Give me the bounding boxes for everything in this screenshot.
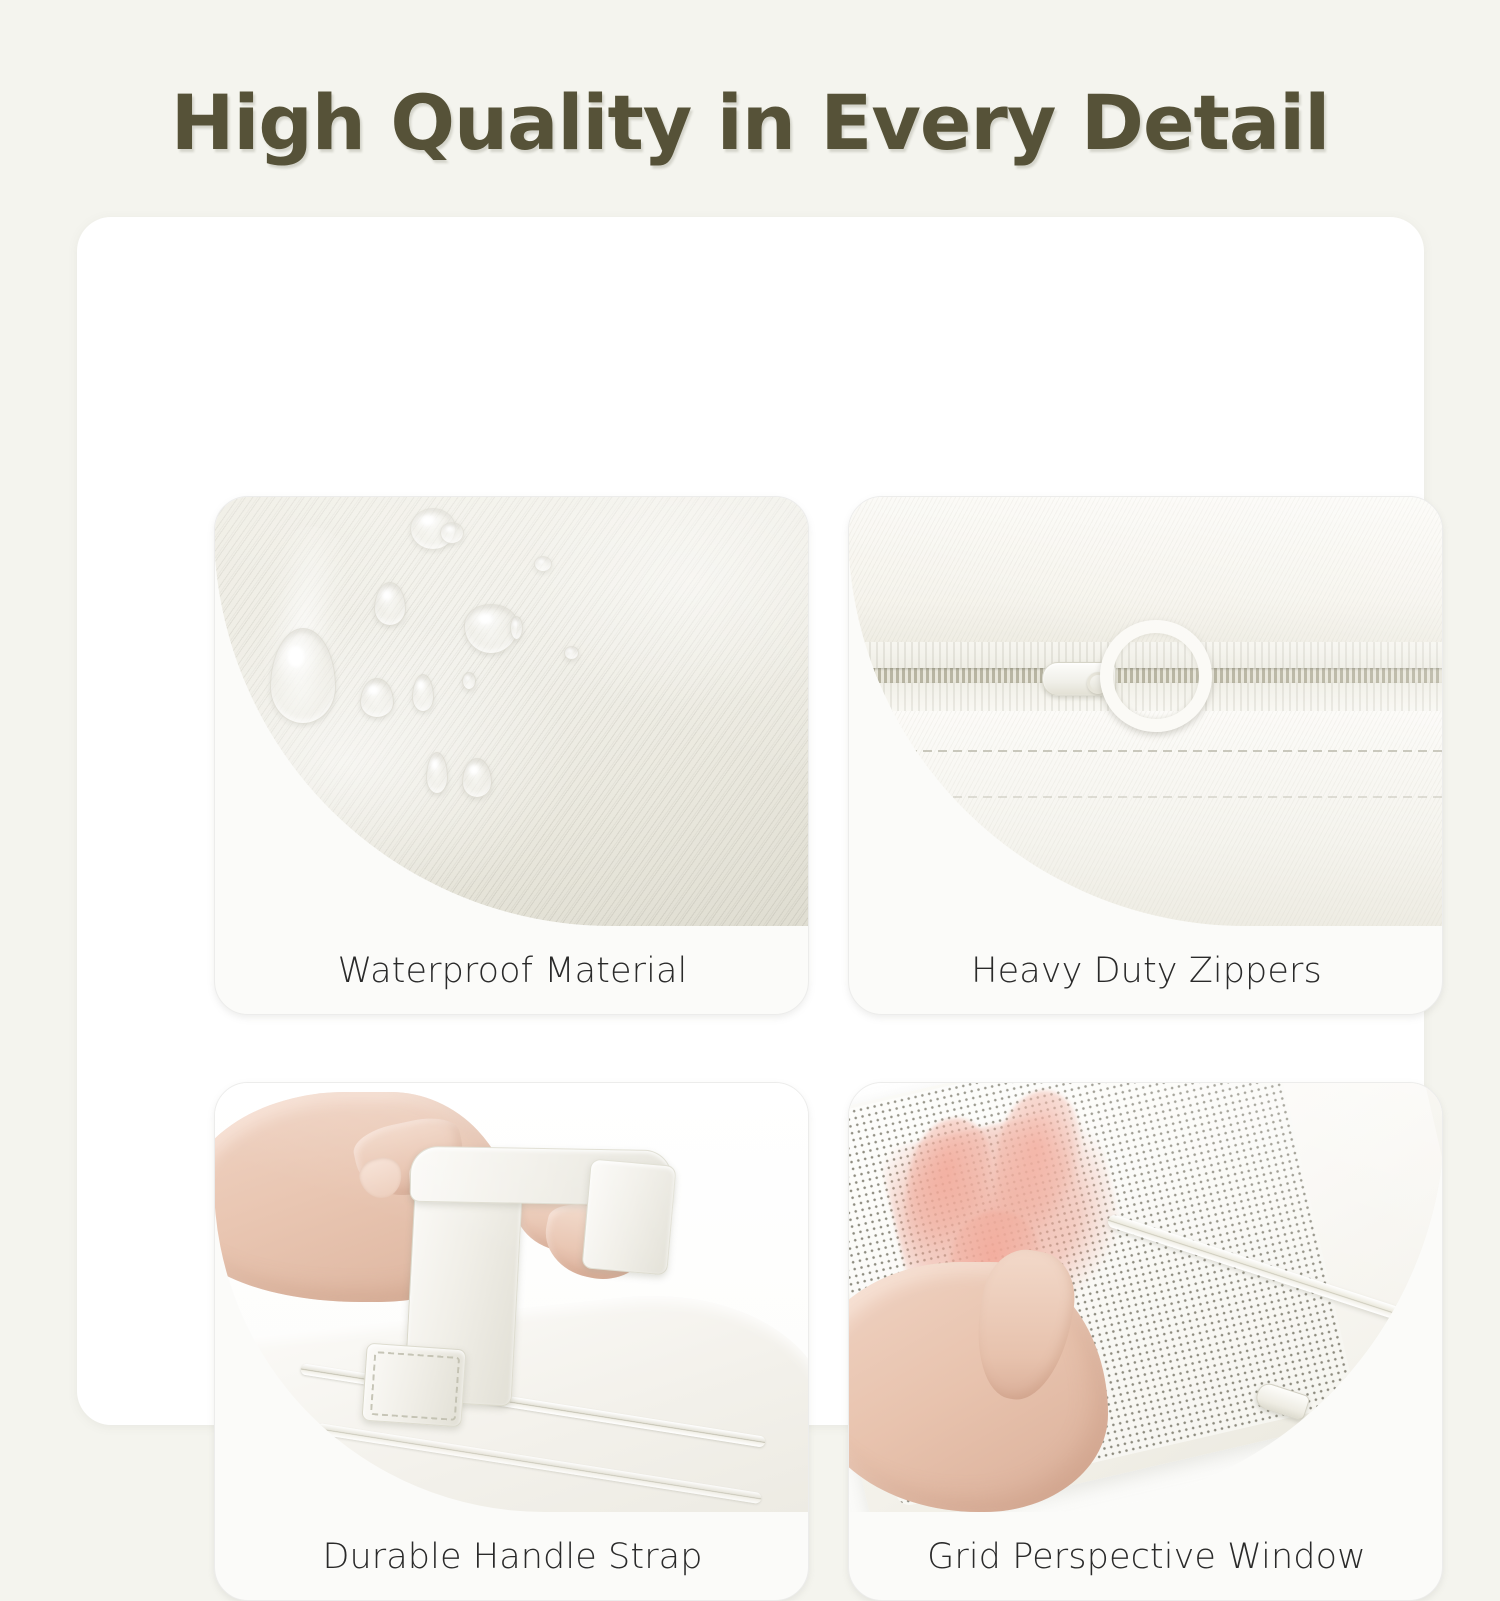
feature-caption-grid-perspective-window: Grid Perspective Window xyxy=(849,1514,1443,1600)
page-title: High Quality in Every Detail xyxy=(0,82,1500,164)
grid-perspective-window-photo xyxy=(848,1082,1443,1512)
water-drop-icon xyxy=(564,646,579,660)
strap-stitching xyxy=(370,1351,460,1421)
feature-card-grid-perspective-window[interactable]: Grid Perspective Window xyxy=(848,1082,1443,1601)
stitch-line xyxy=(848,750,1443,752)
stitch-line xyxy=(848,796,1443,798)
handle-strap-right-leg xyxy=(581,1158,676,1275)
feature-grid: Waterproof Material Heavy Duty xyxy=(214,496,1443,1601)
lower-fabric-panel xyxy=(848,711,1443,926)
water-drop-icon xyxy=(534,556,552,572)
water-drop-icon xyxy=(462,672,476,690)
water-drop-icon xyxy=(440,522,464,544)
feature-card-waterproof-material[interactable]: Waterproof Material xyxy=(214,496,809,1015)
infographic-page: High Quality in Every Detail xyxy=(0,0,1500,1500)
feature-caption-heavy-duty-zippers: Heavy Duty Zippers xyxy=(849,928,1443,1014)
heavy-duty-zippers-photo xyxy=(848,496,1443,926)
feature-card-durable-handle-strap[interactable]: Durable Handle Strap xyxy=(214,1082,809,1601)
feature-caption-durable-handle-strap: Durable Handle Strap xyxy=(215,1514,809,1600)
feature-caption-waterproof-material: Waterproof Material xyxy=(215,928,809,1014)
water-drop-icon xyxy=(510,616,523,640)
feature-card-heavy-duty-zippers[interactable]: Heavy Duty Zippers xyxy=(848,496,1443,1015)
waterproof-material-photo xyxy=(214,496,809,926)
durable-handle-strap-photo xyxy=(214,1082,809,1512)
feature-panel: Waterproof Material Heavy Duty xyxy=(77,217,1424,1425)
zipper-ring-pull-icon xyxy=(1100,620,1212,732)
